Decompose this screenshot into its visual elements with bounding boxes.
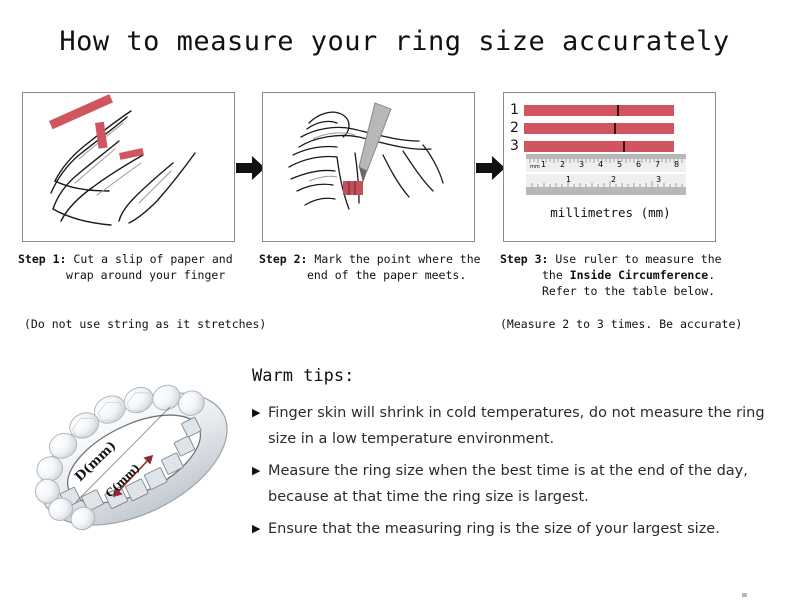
strip-number-1: 1 bbox=[510, 102, 524, 118]
tip-item-1: ▶ Finger skin will shrink in cold temper… bbox=[252, 400, 772, 452]
tip-text-3: Ensure that the measuring ring is the si… bbox=[268, 516, 720, 542]
scan-artifact bbox=[742, 593, 747, 597]
bullet-triangle-icon: ▶ bbox=[252, 400, 268, 426]
step3-label: Step 3: bbox=[500, 252, 548, 266]
paper-strip-row-1: 1 bbox=[510, 102, 674, 118]
step3-line2-prefix: the bbox=[542, 268, 570, 282]
step2-label: Step 2: bbox=[259, 252, 307, 266]
step1-line2: wrap around your finger bbox=[18, 267, 258, 283]
ruler-caption: millimetres (mm) bbox=[504, 205, 716, 220]
step2-line1: Mark the point where the bbox=[314, 252, 480, 266]
hand-marking-paper-with-pen-illustration bbox=[263, 93, 473, 240]
step3-caption: Step 3: Use ruler to measure the the Ins… bbox=[500, 251, 750, 299]
step1-note: (Do not use string as it stretches) bbox=[24, 317, 266, 331]
step1-line1: Cut a slip of paper and bbox=[73, 252, 232, 266]
step3-inside-circumference-emphasis: Inside Circumference bbox=[570, 268, 708, 282]
ring-diagram: D(mm) C(mm) bbox=[18, 352, 250, 567]
step3-line2: the Inside Circumference. bbox=[500, 267, 750, 283]
paper-strip-1 bbox=[524, 105, 674, 116]
hand-with-paper-strip-illustration bbox=[23, 93, 233, 240]
step3-note: (Measure 2 to 3 times. Be accurate) bbox=[500, 317, 742, 331]
arrow-step2-to-step3-icon bbox=[476, 155, 506, 181]
tip-text-2: Measure the ring size when the best time… bbox=[268, 458, 772, 510]
step2-caption: Step 2: Mark the point where the end of … bbox=[259, 251, 499, 283]
tip-item-2: ▶ Measure the ring size when the best ti… bbox=[252, 458, 772, 510]
ruler-tick-marks bbox=[526, 154, 686, 195]
strip-number-3: 3 bbox=[510, 138, 524, 154]
warm-tips-list: ▶ Finger skin will shrink in cold temper… bbox=[252, 400, 772, 548]
strip-mark-1 bbox=[617, 105, 619, 116]
page-title: How to measure your ring size accurately bbox=[0, 26, 789, 57]
ruler-graphic: mm 1 2 3 4 5 6 7 8 1 2 3 bbox=[526, 154, 686, 195]
bullet-triangle-icon: ▶ bbox=[252, 516, 268, 542]
step3-line1: Use ruler to measure the bbox=[555, 252, 721, 266]
step2-line2: end of the paper meets. bbox=[259, 267, 499, 283]
step1-label: Step 1: bbox=[18, 252, 66, 266]
ring-size-guide-page: How to measure your ring size accurately bbox=[0, 0, 789, 606]
paper-strip-row-3: 3 bbox=[510, 138, 674, 154]
warm-tips-heading: Warm tips: bbox=[252, 366, 354, 386]
strip-mark-3 bbox=[623, 141, 625, 152]
tip-item-3: ▶ Ensure that the measuring ring is the … bbox=[252, 516, 772, 542]
paper-strip-row-2: 2 bbox=[510, 120, 674, 136]
step1-illustration-panel bbox=[22, 92, 235, 242]
step3-illustration-panel: 1 2 3 mm 1 2 3 4 5 bbox=[503, 92, 716, 242]
diamond-eternity-ring-illustration: D(mm) C(mm) bbox=[18, 352, 250, 567]
tip-text-1: Finger skin will shrink in cold temperat… bbox=[268, 400, 772, 452]
strip-number-2: 2 bbox=[510, 120, 524, 136]
step3-line2-suffix: . bbox=[708, 268, 715, 282]
step3-line3: Refer to the table below. bbox=[500, 283, 750, 299]
paper-strip-2 bbox=[524, 123, 674, 134]
step1-caption: Step 1: Cut a slip of paper and wrap aro… bbox=[18, 251, 258, 283]
step2-illustration-panel bbox=[262, 92, 475, 242]
bullet-triangle-icon: ▶ bbox=[252, 458, 268, 484]
paper-strip-3 bbox=[524, 141, 674, 152]
strip-mark-2 bbox=[614, 123, 616, 134]
